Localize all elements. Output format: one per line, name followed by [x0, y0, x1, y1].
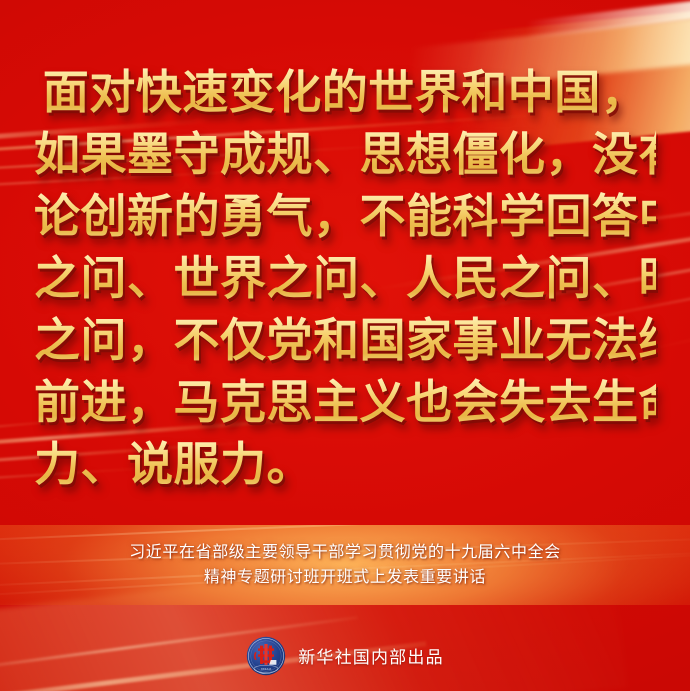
headline-line: 力、说服力。	[34, 434, 656, 496]
headline-quote: 面对快速变化的世界和中国， 如果墨守成规、思想僵化，没有理 论创新的勇气，不能科…	[0, 62, 690, 496]
headline-line: 面对快速变化的世界和中国，	[34, 62, 656, 124]
caption-band: 习近平在省部级主要领导干部学习贯彻党的十九届六中全会 精神专题研讨班开班式上发表…	[0, 525, 690, 605]
headline-line: 如果墨守成规、思想僵化，没有理	[34, 124, 656, 186]
poster-canvas: 面对快速变化的世界和中国， 如果墨守成规、思想僵化，没有理 论创新的勇气，不能科…	[0, 0, 690, 691]
headline-line: 之问，不仅党和国家事业无法继续	[34, 310, 656, 372]
headline-line: 之问、世界之问、人民之问、时代	[34, 248, 656, 310]
top-right-glow-highlight	[527, 0, 690, 39]
headline-line: 论创新的勇气，不能科学回答中国	[34, 186, 656, 248]
caption-line: 习近平在省部级主要领导干部学习贯彻党的十九届六中全会	[129, 540, 561, 565]
footer-credit-text: 新华社国内部出品	[298, 643, 444, 668]
svg-text:XINHUA: XINHUA	[261, 667, 272, 671]
footer-credit: XINHUA 新华社国内部出品	[0, 620, 690, 691]
caption-line: 精神专题研讨班开班式上发表重要讲话	[204, 565, 486, 590]
xinhua-news-agency-emblem-icon: XINHUA	[246, 636, 286, 676]
headline-line: 前进，马克思主义也会失去生命	[34, 372, 656, 434]
